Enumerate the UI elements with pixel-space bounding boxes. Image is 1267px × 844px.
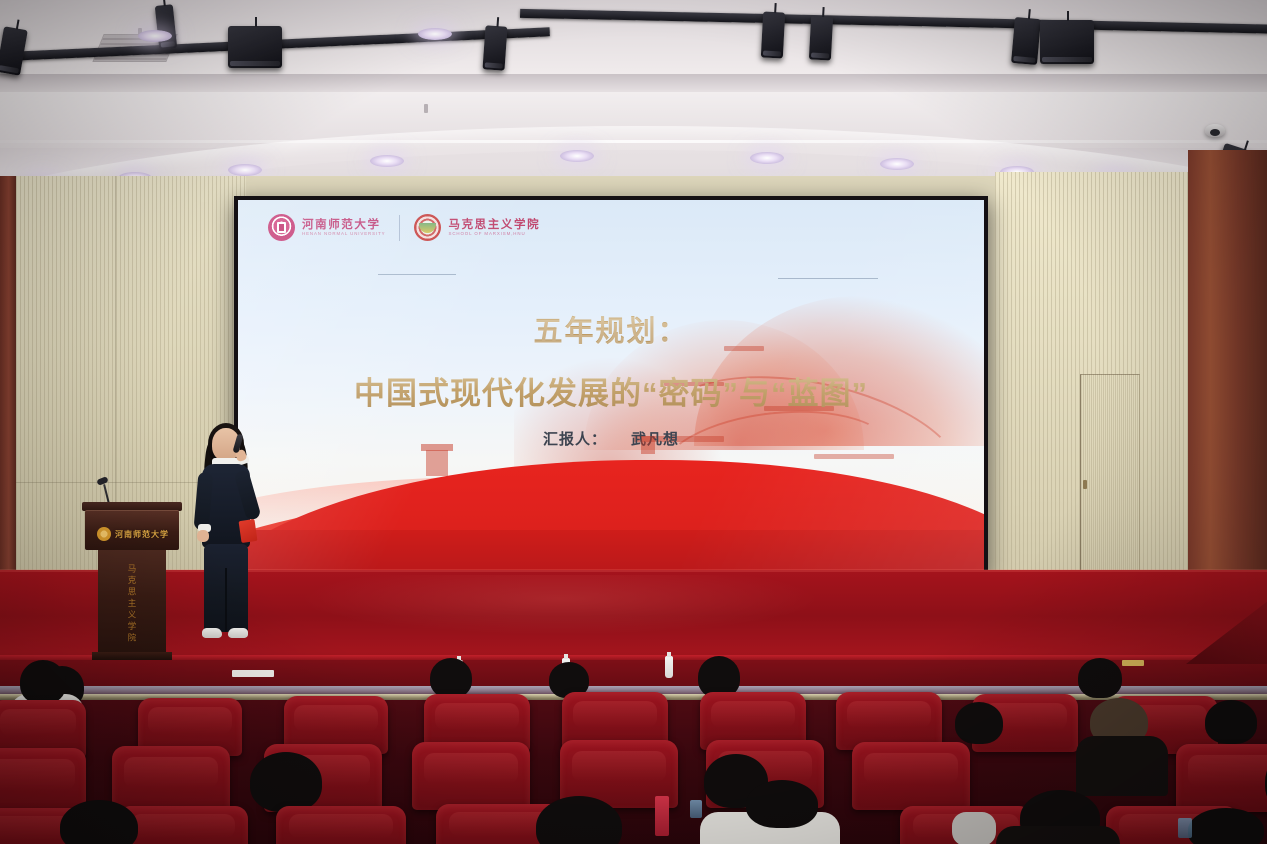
ceiling [0, 0, 1267, 200]
stage-edge-highlight [0, 569, 1267, 572]
downlight-icon [418, 28, 452, 40]
audience-head [955, 702, 1003, 744]
ceiling-band-shadow [0, 74, 1267, 92]
shoe [202, 628, 222, 638]
logo-name-cn: 河南师范大学 [302, 219, 385, 231]
paper-sheet [1122, 660, 1144, 666]
water-bottle [665, 656, 673, 678]
slide: 河南师范大学 HENAN NORMAL UNIVERSITY 马克思主义学院 S… [238, 200, 984, 574]
audience-head [746, 780, 818, 828]
seat [852, 742, 970, 810]
logo-henan-normal-university: 河南师范大学 HENAN NORMAL UNIVERSITY [268, 214, 385, 241]
downlight-icon [370, 155, 404, 167]
stage-spotlight-icon [482, 25, 507, 70]
hnu-emblem-icon [97, 527, 111, 541]
stage-spotlight-icon [809, 15, 833, 60]
lectern-name-text: 河南师范大学 [115, 529, 169, 540]
phone-screen [1178, 818, 1192, 838]
audience-body [1076, 736, 1168, 796]
lectern-front-panel: 河南师范大学 [85, 510, 179, 550]
paper-sheet [232, 670, 274, 677]
shoe [228, 628, 248, 638]
audience-head [430, 658, 472, 698]
seat [112, 746, 230, 814]
door-handle-icon[interactable] [1083, 480, 1087, 489]
logo-divider [399, 215, 400, 241]
presentation-screen: 河南师范大学 HENAN NORMAL UNIVERSITY 马克思主义学院 S… [234, 196, 988, 578]
lectern-vertical-text: 马克思主义学院 [126, 564, 138, 645]
slide-title-line1: 五年规划： [238, 308, 984, 350]
lectern-base [92, 652, 172, 660]
audience-head [1078, 658, 1122, 698]
audience-head [1188, 808, 1264, 844]
decorative-rule [778, 278, 878, 279]
ceiling-speaker-icon [1040, 20, 1094, 64]
downlight-icon [228, 164, 262, 176]
ceiling-cove-light [0, 140, 1267, 143]
auditorium-scene: 河南师范大学 HENAN NORMAL UNIVERSITY 马克思主义学院 S… [0, 0, 1267, 844]
slide-red-wave-graphic [238, 438, 984, 574]
audience-head [20, 660, 66, 704]
audience-shoulder [952, 812, 996, 844]
slide-logo-row: 河南师范大学 HENAN NORMAL UNIVERSITY 马克思主义学院 S… [268, 214, 540, 241]
lectern: 河南师范大学 马克思主义学院 [88, 502, 176, 660]
watchtower-illustration [641, 436, 655, 454]
downlight-icon [880, 158, 914, 170]
decorative-rule [378, 274, 456, 275]
audience-body [996, 826, 1120, 844]
concealed-door[interactable] [1080, 374, 1140, 587]
logo-name-en: SCHOOL OF MARXISM,HNU [448, 232, 540, 237]
school-crest-icon [414, 214, 441, 241]
logo-name-en: HENAN NORMAL UNIVERSITY [302, 232, 385, 237]
watchtower-illustration [426, 450, 448, 476]
stage-light-glow [300, 575, 820, 635]
audience-head [1205, 700, 1257, 744]
ceiling-speaker-icon [228, 26, 282, 68]
presenter-person [192, 428, 260, 646]
sprinkler-icon [424, 104, 428, 113]
stage-spotlight-icon [761, 11, 785, 58]
logo-name-cn: 马克思主义学院 [448, 219, 540, 231]
university-crest-icon [268, 214, 295, 241]
seat [1176, 744, 1267, 812]
phone-screen [690, 800, 702, 818]
downlight-icon [560, 150, 594, 162]
audience-head [250, 752, 322, 812]
seat [412, 742, 530, 810]
slide-title-line2: 中国式现代化发展的“密码”与“蓝图” [238, 368, 984, 413]
wall-column-left [0, 176, 16, 622]
seat [276, 806, 406, 844]
stage-spotlight-icon [1011, 17, 1041, 65]
downlight-icon [750, 152, 784, 164]
logo-school-of-marxism: 马克思主义学院 SCHOOL OF MARXISM,HNU [414, 214, 540, 241]
red-card [239, 519, 258, 543]
red-booklet [655, 796, 669, 836]
downlight-icon [138, 30, 172, 42]
dome-camera-icon [1205, 124, 1225, 137]
